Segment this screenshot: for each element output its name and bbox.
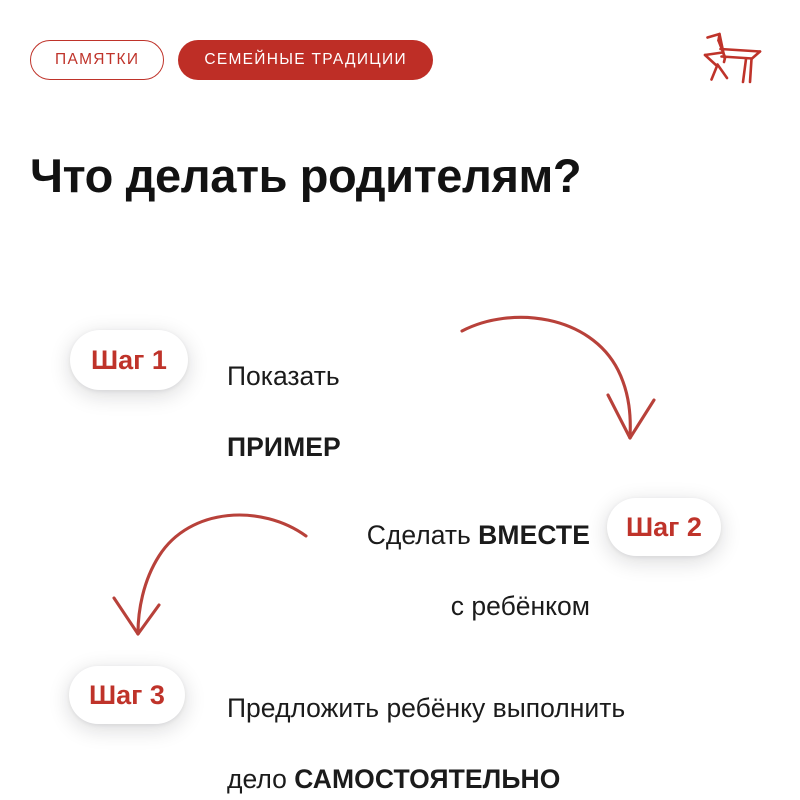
step-2-text: Сделать ВМЕСТЕ с ребёнком — [200, 483, 590, 624]
step-1-line-1: Показать — [227, 361, 340, 391]
step-3-line-2-bold: САМОСТОЯТЕЛЬНО — [294, 764, 560, 794]
step-1-text: Показать ПРИМЕР — [227, 324, 557, 465]
step-3-text: Предложить ребёнку выполнить дело САМОСТ… — [227, 656, 737, 797]
step-2-line-1-regular: Сделать — [367, 520, 478, 550]
step-3-pill[interactable]: Шаг 3 — [69, 666, 185, 724]
badge-row: ПАМЯТКИ СЕМЕЙНЫЕ ТРАДИЦИИ — [30, 40, 433, 80]
step-2-pill[interactable]: Шаг 2 — [607, 498, 721, 556]
infographic-poster: ПАМЯТКИ СЕМЕЙНЫЕ ТРАДИЦИИ Что делать род… — [0, 0, 800, 800]
step-2-line-1-bold: ВМЕСТЕ — [478, 520, 590, 550]
badge-semeynye-traditsii[interactable]: СЕМЕЙНЫЕ ТРАДИЦИИ — [178, 40, 433, 80]
step-3-line-1: Предложить ребёнку выполнить — [227, 693, 625, 723]
step-1-line-2: ПРИМЕР — [227, 432, 341, 462]
horse-line-logo — [694, 18, 772, 94]
step-3-line-2-regular: дело — [227, 764, 294, 794]
step-2-line-2: с ребёнком — [451, 591, 590, 621]
step-1-pill[interactable]: Шаг 1 — [70, 330, 188, 390]
page-title: Что делать родителям? — [30, 150, 750, 203]
badge-pamyatki[interactable]: ПАМЯТКИ — [30, 40, 164, 80]
